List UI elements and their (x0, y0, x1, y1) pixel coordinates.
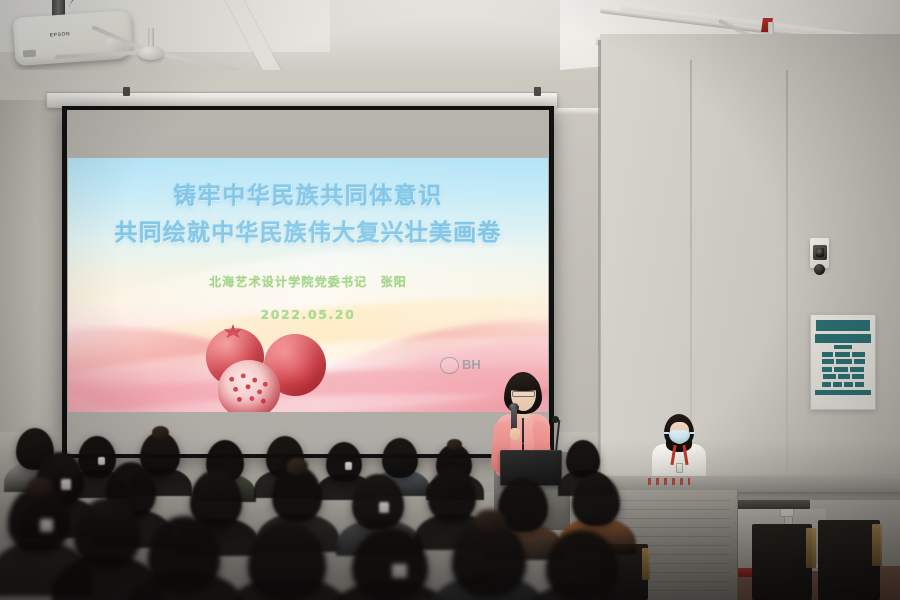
audience-head (546, 530, 618, 600)
lecture-hall-photo: EPSON (0, 0, 900, 600)
speaker-hand (510, 428, 520, 440)
audience-member (0, 0, 900, 600)
